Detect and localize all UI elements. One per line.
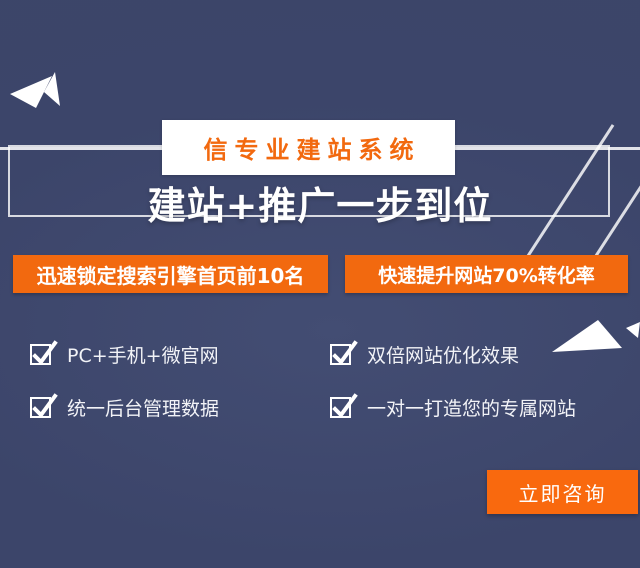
promise-strip-conversion-label: 快速提升网站70%转化率 [378,261,594,288]
feature-list: PC+手机+微官网 双倍网站优化效果 统一后台管理数据 [30,328,630,434]
list-item: 双倍网站优化效果 [330,328,630,381]
checkbox-checked-icon [330,344,351,365]
feature-row: 统一后台管理数据 一对一打造您的专属网站 [30,381,630,434]
list-item: 统一后台管理数据 [30,381,330,434]
paper-plane-icon [8,62,76,118]
checkbox-checked-icon [30,397,51,418]
feature-label: PC+手机+微官网 [67,341,219,368]
feature-label: 一对一打造您的专属网站 [367,394,576,421]
checkbox-checked-icon [30,344,51,365]
promise-strip-rank: 迅速锁定搜索引擎首页前10名 [13,255,328,293]
promo-banner: 信专业建站系统 建站+推广一步到位 迅速锁定搜索引擎首页前10名 快速提升网站7… [0,0,640,568]
tagline-box: 信专业建站系统 [162,120,455,175]
checkbox-checked-icon [330,397,351,418]
list-item: PC+手机+微官网 [30,328,330,381]
consult-now-button[interactable]: 立即咨询 [487,470,638,514]
promise-strip-rank-label: 迅速锁定搜索引擎首页前10名 [37,260,305,289]
page-title: 建站+推广一步到位 [0,175,640,230]
tagline-rule-left [0,147,168,150]
tagline-rule-right [452,147,640,150]
feature-label: 双倍网站优化效果 [367,341,519,368]
list-item: 一对一打造您的专属网站 [330,381,630,434]
tagline-text: 信专业建站系统 [197,130,421,165]
feature-label: 统一后台管理数据 [67,394,219,421]
promise-strip-conversion: 快速提升网站70%转化率 [345,255,628,293]
feature-row: PC+手机+微官网 双倍网站优化效果 [30,328,630,381]
